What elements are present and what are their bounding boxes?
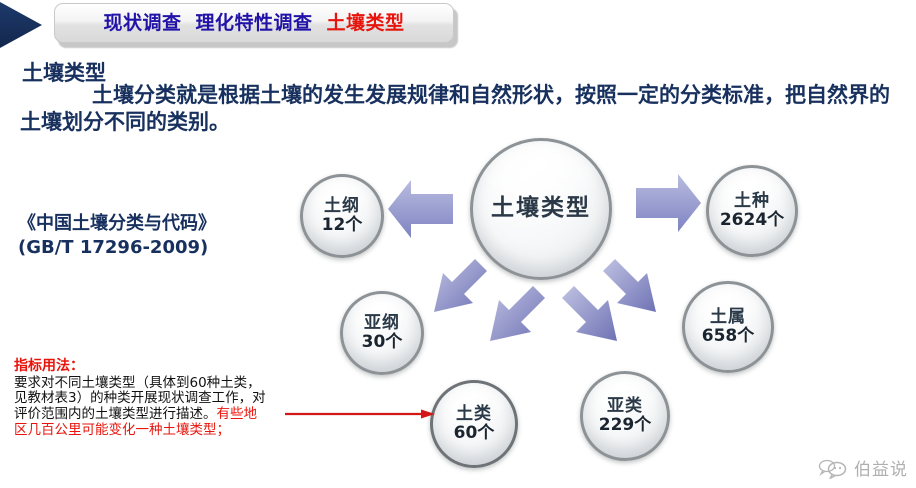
node-label: 土类 — [456, 405, 492, 424]
node-label: 土纲 — [324, 197, 360, 216]
speech-bubble-icon — [818, 457, 848, 479]
node-tugang[interactable]: 土纲 12个 — [300, 174, 384, 258]
node-label: 亚纲 — [364, 314, 400, 333]
node-label: 土种 — [734, 192, 770, 211]
node-turang-leixing[interactable]: 土壤类型 — [470, 138, 612, 280]
arrow-to-tugang — [388, 180, 453, 238]
arrow-to-tulei — [490, 286, 545, 341]
red-pointer-arrow — [285, 408, 435, 420]
node-label: 亚类 — [607, 397, 643, 416]
node-count: 60个 — [454, 424, 495, 443]
node-count: 2624个 — [720, 211, 784, 230]
soil-classification-diagram: 土壤类型 土纲 12个 土种 2624个 亚纲 30个 土属 658个 土类 6… — [0, 0, 916, 488]
node-tushu[interactable]: 土属 658个 — [682, 281, 774, 373]
node-label: 土壤类型 — [491, 196, 591, 222]
watermark-text: 伯益说 — [854, 455, 908, 480]
node-count: 658个 — [702, 327, 755, 346]
node-count: 30个 — [362, 333, 403, 352]
arrow-to-yalei — [562, 286, 617, 341]
node-label: 土属 — [710, 308, 746, 327]
node-tuzhong[interactable]: 土种 2624个 — [706, 165, 798, 257]
node-yagang[interactable]: 亚纲 30个 — [340, 291, 424, 375]
arrow-to-tushu — [603, 259, 656, 312]
watermark: 伯益说 — [818, 455, 908, 480]
node-count: 229个 — [599, 416, 652, 435]
arrow-to-yagang — [420, 259, 487, 312]
arrow-to-tuzhong — [636, 174, 701, 232]
node-yalei[interactable]: 亚类 229个 — [580, 371, 670, 461]
node-tulei[interactable]: 土类 60个 — [430, 380, 518, 468]
node-count: 12个 — [322, 216, 363, 235]
